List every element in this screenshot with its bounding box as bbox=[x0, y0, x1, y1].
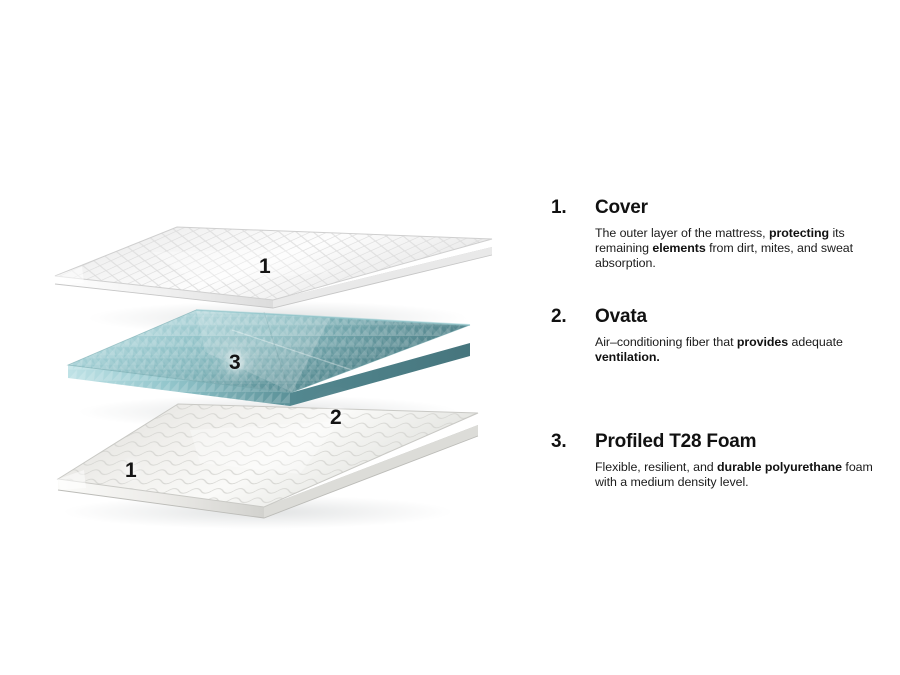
mattress-layers-illustration: 1 3 2 1 bbox=[0, 0, 520, 675]
legend-item-cover: 1. Cover The outer layer of the mattress… bbox=[551, 197, 881, 272]
legend-item-index: 1. bbox=[551, 197, 595, 219]
legend-item-body: Ovata Air–conditioning fiber that provid… bbox=[595, 306, 881, 365]
legend-item-description: Flexible, resilient, and durable polyure… bbox=[595, 460, 881, 490]
page-canvas: 1 3 2 1 1. Cover The outer layer of the … bbox=[0, 0, 900, 675]
legend-item-index: 3. bbox=[551, 431, 595, 453]
legend-panel: 1. Cover The outer layer of the mattress… bbox=[551, 0, 881, 675]
legend-item-description: The outer layer of the mattress, protect… bbox=[595, 226, 881, 272]
legend-item-title: Cover bbox=[595, 197, 881, 219]
legend-item-profiled-t28-foam: 3. Profiled T28 Foam Flexible, resilient… bbox=[551, 431, 881, 490]
legend-item-title: Ovata bbox=[595, 306, 881, 328]
legend-item-body: Cover The outer layer of the mattress, p… bbox=[595, 197, 881, 272]
legend-item-description: Air–conditioning fiber that provides ade… bbox=[595, 335, 881, 365]
legend-item-title: Profiled T28 Foam bbox=[595, 431, 881, 453]
legend-item-ovata: 2. Ovata Air–conditioning fiber that pro… bbox=[551, 306, 881, 365]
legend-item-body: Profiled T28 Foam Flexible, resilient, a… bbox=[595, 431, 881, 490]
layer-cover-slab bbox=[55, 227, 492, 308]
legend-item-index: 2. bbox=[551, 306, 595, 328]
